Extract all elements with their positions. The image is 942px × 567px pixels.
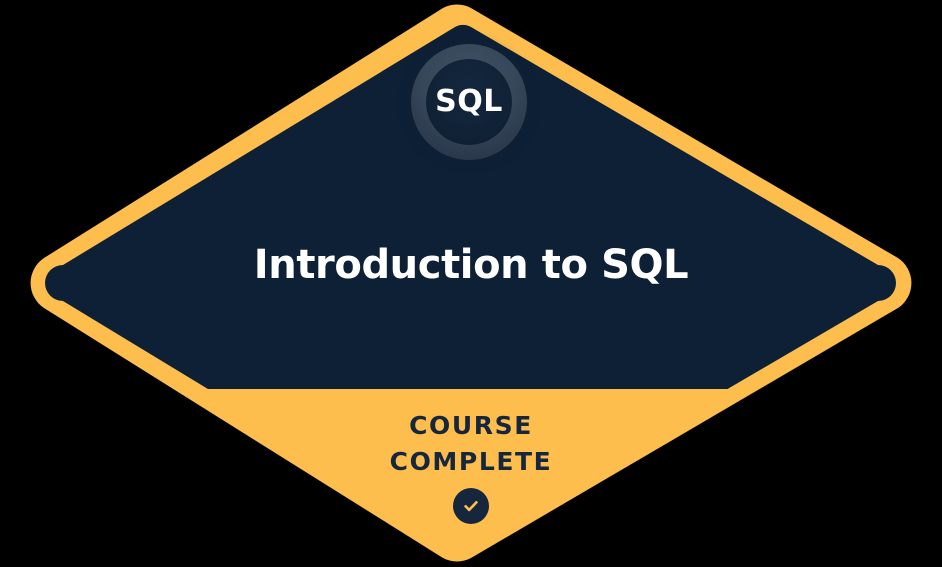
status-line-complete: COMPLETE [0, 444, 942, 480]
course-title: Introduction to SQL [0, 243, 942, 287]
status-line-course: COURSE [0, 408, 942, 444]
technology-emblem-inner: SQL [426, 59, 512, 145]
completion-check-badge [453, 488, 489, 524]
course-completion-badge: SQL Introduction to SQL COURSE COMPLETE [0, 0, 942, 567]
technology-emblem: SQL [411, 44, 527, 160]
check-icon [461, 496, 481, 516]
technology-label: SQL [435, 87, 503, 117]
check-badge-wrap [0, 488, 942, 524]
completion-status: COURSE COMPLETE [0, 408, 942, 524]
